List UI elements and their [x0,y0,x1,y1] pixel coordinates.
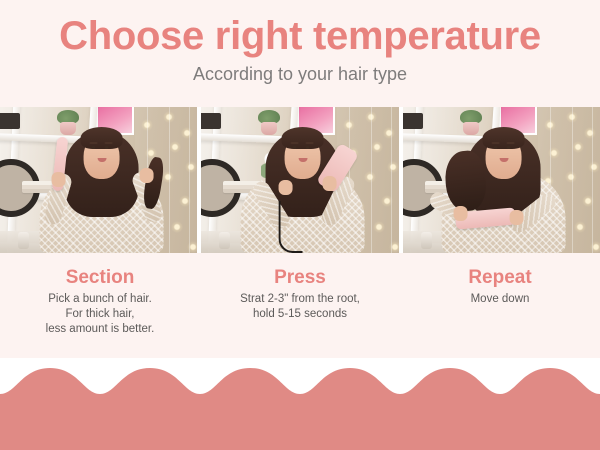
step-line: For thick hair, [0,307,200,322]
eye [305,146,309,149]
picture-frame [201,113,221,129]
light-string [169,107,170,253]
eye [91,146,95,149]
step-description: Move down [400,292,600,307]
step-repeat: Repeat Move down [400,253,600,358]
light-string [592,107,593,253]
steps-band: Section Pick a bunch of hair. For thick … [0,253,600,358]
eyebrow [507,142,515,144]
header-band: Choose right temperature According to yo… [0,0,600,107]
eye [292,146,296,149]
photo-panel-section [0,107,197,253]
footer-wave-band [0,358,600,450]
light-string [189,107,190,253]
bottle [18,232,29,249]
step-line: less amount is better. [0,322,200,337]
picture-frame [0,113,20,129]
hand [510,210,524,225]
step-title: Section [0,266,200,289]
eyebrow [492,142,500,144]
hair-top [483,127,525,149]
eye [494,146,498,149]
hand [322,176,336,191]
step-line: Strat 2-3" from the root, [200,292,400,307]
page-subtitle: According to your hair type [0,59,600,85]
eyebrow [89,142,97,144]
step-line: hold 5-15 seconds [200,307,400,322]
hand [139,168,153,183]
light-string [391,107,392,253]
hair-top [80,127,122,149]
person-figure [238,133,366,253]
infographic-root: Choose right temperature According to yo… [0,0,600,450]
step-section: Section Pick a bunch of hair. For thick … [0,253,200,358]
photo-strip [0,107,600,253]
eyebrow [305,142,313,144]
step-press: Press Strat 2-3" from the root, hold 5-1… [200,253,400,358]
light-string [572,107,573,253]
photo-panel-repeat [403,107,600,253]
power-cord [278,201,302,253]
bottle [421,232,432,249]
eyebrow [104,142,112,144]
light-string [371,107,372,253]
hair-strand [141,156,165,210]
page-title: Choose right temperature [0,0,600,59]
step-title: Press [200,266,400,289]
person-figure [37,133,165,253]
picture-frame [403,113,423,129]
hair-top [281,127,323,149]
person-figure [440,133,568,253]
hand [454,206,468,221]
step-description: Pick a bunch of hair. For thick hair, le… [0,292,200,337]
step-description: Strat 2-3" from the root, hold 5-15 seco… [200,292,400,322]
eye [104,146,108,149]
hand [51,172,65,187]
hand [278,180,292,195]
step-line: Pick a bunch of hair. [0,292,200,307]
wave-decoration [0,358,600,450]
bottle [219,232,230,249]
eye [507,146,511,149]
eyebrow [290,142,298,144]
wave-shape [0,368,600,450]
step-line: Move down [400,292,600,307]
step-title: Repeat [400,266,600,289]
photo-panel-press [201,107,398,253]
